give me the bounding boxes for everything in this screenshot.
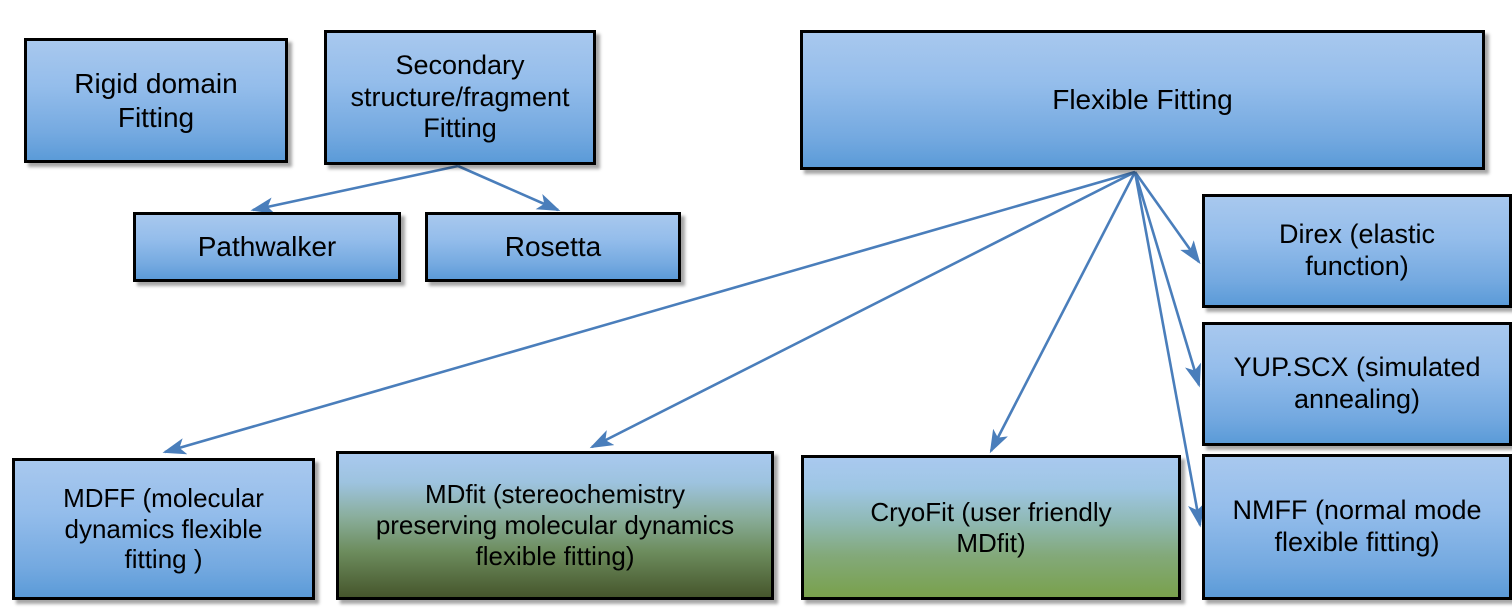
node-label-cryofit: CryoFit (user friendly MDfit) — [870, 497, 1111, 558]
node-yup-scx[interactable]: YUP.SCX (simulated annealing) — [1202, 322, 1512, 446]
node-nmff[interactable]: NMFF (normal mode flexible fitting) — [1202, 454, 1512, 600]
node-cryofit[interactable]: CryoFit (user friendly MDfit) — [801, 455, 1181, 600]
node-mdfit[interactable]: MDfit (stereochemistry preserving molecu… — [336, 451, 774, 600]
node-label-rosetta: Rosetta — [505, 230, 602, 263]
node-label-mdfit: MDfit (stereochemistry preserving molecu… — [376, 479, 734, 571]
node-label-flexible-fitting: Flexible Fitting — [1052, 83, 1233, 116]
arrow-secondary-to-rosetta — [458, 166, 558, 210]
arrow-flexible-to-cryofit — [991, 172, 1135, 451]
node-label-pathwalker: Pathwalker — [198, 230, 337, 263]
node-label-mdff: MDFF (molecular dynamics flexible fittin… — [63, 483, 264, 575]
node-label-nmff: NMFF (normal mode flexible fitting) — [1232, 495, 1481, 559]
node-rosetta[interactable]: Rosetta — [425, 212, 681, 282]
diagram-canvas: Rigid domain FittingSecondary structure/… — [0, 0, 1512, 610]
node-mdff[interactable]: MDFF (molecular dynamics flexible fittin… — [12, 458, 315, 600]
node-flexible-fitting[interactable]: Flexible Fitting — [800, 30, 1485, 170]
node-secondary-structure-fragment-fitting[interactable]: Secondary structure/fragment Fitting — [324, 30, 596, 165]
node-label-secondary-structure-fragment-fitting: Secondary structure/fragment Fitting — [350, 50, 569, 146]
node-label-rigid-domain-fitting: Rigid domain Fitting — [74, 67, 237, 133]
arrow-flexible-to-direx — [1135, 172, 1199, 262]
node-rigid-domain-fitting[interactable]: Rigid domain Fitting — [24, 38, 288, 163]
arrow-secondary-to-pathwalker — [253, 166, 458, 210]
node-pathwalker[interactable]: Pathwalker — [133, 212, 401, 282]
node-label-direx: Direx (elastic function) — [1279, 219, 1435, 283]
arrow-flexible-to-yupscx — [1135, 172, 1199, 385]
node-direx[interactable]: Direx (elastic function) — [1202, 194, 1512, 308]
node-label-yup-scx: YUP.SCX (simulated annealing) — [1233, 352, 1480, 416]
